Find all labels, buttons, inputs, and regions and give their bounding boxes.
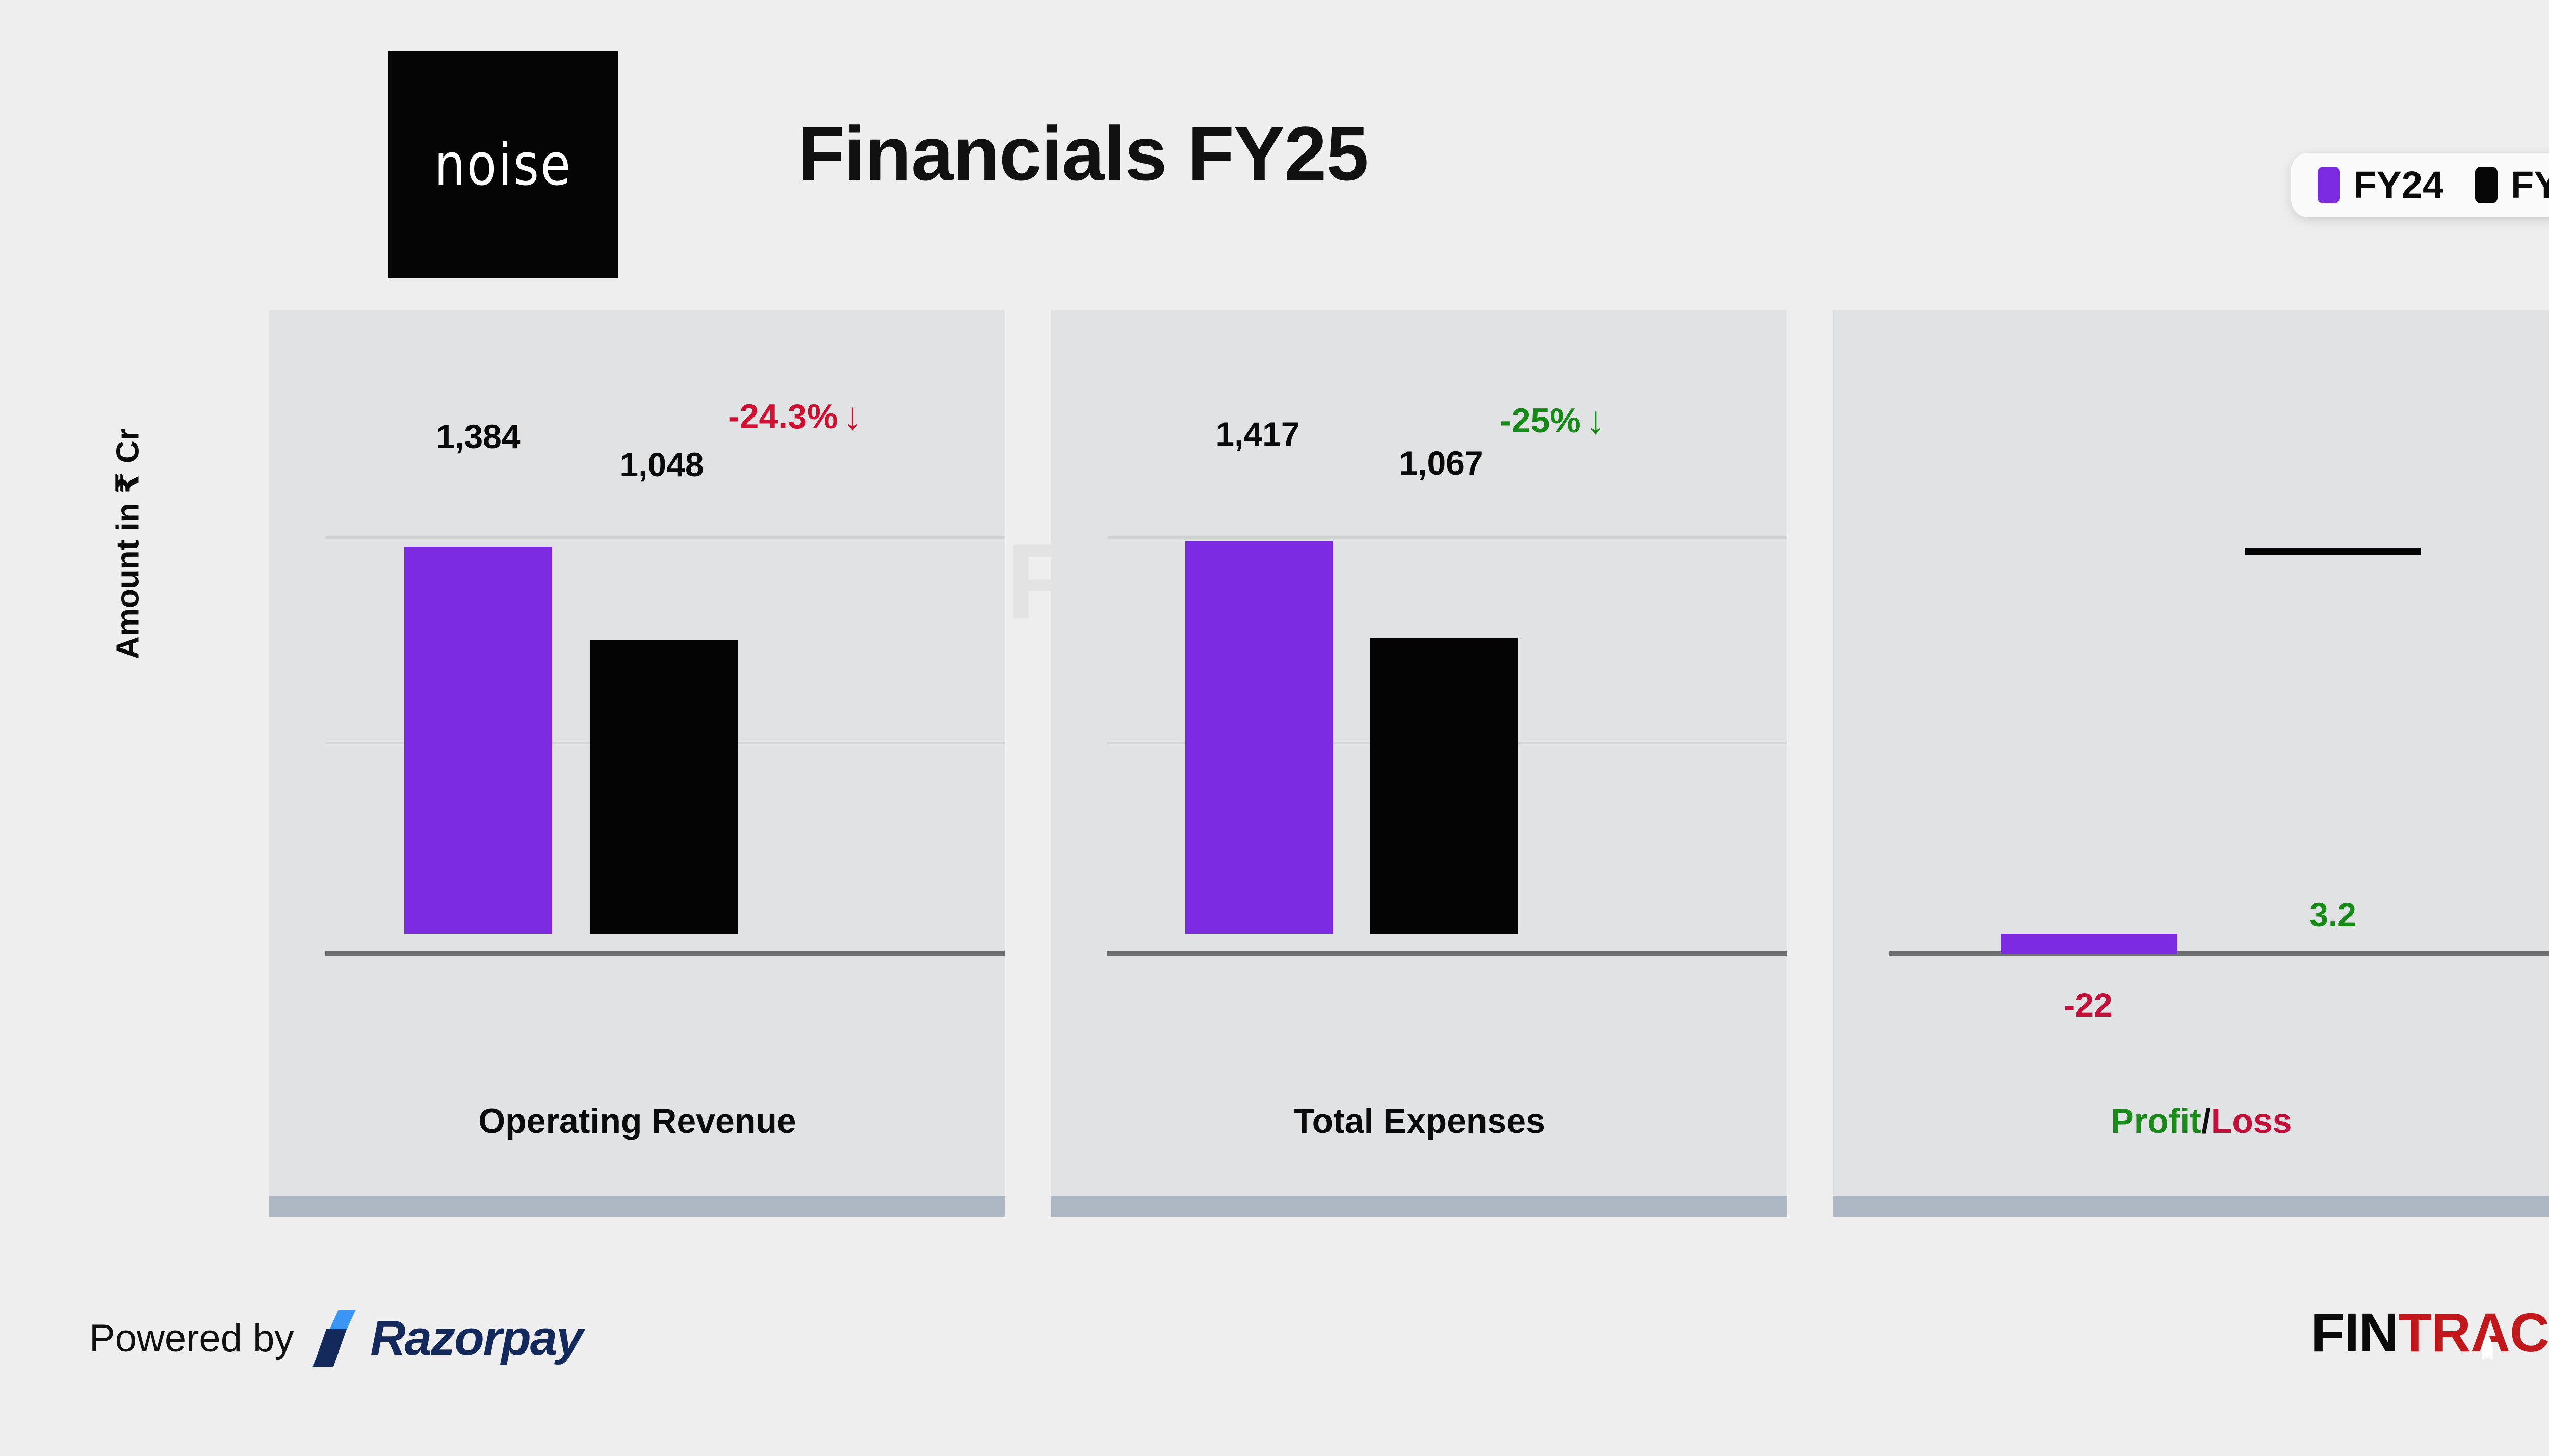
- delta-value: -25%: [1500, 401, 1581, 440]
- legend-swatch-fy25-icon: [2475, 167, 2498, 203]
- razorpay-logo: Razorpay: [311, 1310, 582, 1367]
- infographic-canvas: noise Financials FY25 FY24 FY25 Amount i…: [0, 0, 2549, 1456]
- powered-by-label: Powered by: [89, 1316, 294, 1361]
- gridline: [325, 536, 1005, 539]
- bar-value-fy25: 1,048: [570, 445, 753, 484]
- bar-value-fy25: 3.2: [2241, 895, 2425, 934]
- arrow-down-icon: ↓: [1586, 403, 1605, 438]
- caption-profit-word: Profit: [2111, 1102, 2201, 1140]
- bar-fy24[interactable]: [404, 547, 552, 934]
- panel-operating-revenue: -24.3% ↓ 1,384 1,048 Operating Revenue: [269, 310, 1005, 1217]
- fintrackr-trackr-label: TRACKR: [2398, 1302, 2549, 1363]
- legend-item-fy25[interactable]: FY25: [2475, 166, 2549, 204]
- fintrackr-logo: FIN TRACKR: [2311, 1301, 2549, 1364]
- panel-accent-bar: [1051, 1196, 1787, 1217]
- razorpay-mark-icon: [311, 1310, 366, 1367]
- rocket-icon: [2476, 1333, 2499, 1363]
- bar-fy24[interactable]: [1185, 541, 1333, 934]
- delta-value: -24.3%: [728, 397, 838, 436]
- arrow-down-icon: ↓: [843, 399, 862, 434]
- gridline: [1107, 536, 1787, 539]
- delta-badge-operating-revenue: -24.3% ↓: [728, 397, 862, 436]
- axis-baseline: [1107, 951, 1787, 956]
- noise-logo-text: noise: [434, 131, 572, 198]
- legend-label-fy24: FY24: [2353, 166, 2443, 204]
- panel-caption-total-expenses: Total Expenses: [1051, 1101, 1787, 1141]
- chart-panels: -24.3% ↓ 1,384 1,048 Operating Revenue -…: [269, 310, 2549, 1217]
- panel-caption-operating-revenue: Operating Revenue: [269, 1101, 1005, 1141]
- bar-value-fy25: 1,067: [1349, 444, 1533, 482]
- plot-area-total-expenses: -25% ↓ 1,417 1,067: [1051, 310, 1787, 1196]
- fintrackr-trackr-text: TRACKR: [2398, 1301, 2549, 1364]
- bar-fy25[interactable]: [1370, 638, 1518, 934]
- plot-area-profit-loss: -22 3.2: [1833, 310, 2549, 1196]
- bar-fy25[interactable]: [590, 640, 738, 934]
- y-axis-label: Amount in ₹ Cr: [109, 366, 146, 722]
- caption-slash: /: [2201, 1102, 2211, 1140]
- legend-swatch-fy24-icon: [2318, 167, 2340, 203]
- bar-value-fy24: 1,417: [1166, 414, 1349, 453]
- legend-label-fy25: FY25: [2511, 166, 2549, 204]
- bar-value-fy24: -22: [1996, 985, 2180, 1024]
- plot-area-operating-revenue: -24.3% ↓ 1,384 1,048: [269, 310, 1005, 1196]
- axis-zero-line: [1889, 951, 2549, 956]
- bar-value-fy24: 1,384: [386, 417, 570, 456]
- legend-item-fy24[interactable]: FY24: [2318, 166, 2443, 204]
- page-title: Financials FY25: [798, 110, 1368, 198]
- axis-baseline: [325, 951, 1005, 956]
- powered-by-razorpay: Powered by Razorpay: [89, 1310, 582, 1367]
- bar-fy25[interactable]: [2245, 548, 2421, 555]
- panel-caption-profit-loss: Profit/Loss: [1833, 1101, 2549, 1141]
- panel-accent-bar: [269, 1196, 1005, 1217]
- caption-loss-word: Loss: [2211, 1102, 2292, 1140]
- delta-badge-total-expenses: -25% ↓: [1500, 401, 1605, 440]
- razorpay-wordmark: Razorpay: [370, 1314, 582, 1363]
- legend: FY24 FY25: [2291, 153, 2549, 217]
- panel-profit-loss: -22 3.2 Profit/Loss: [1833, 310, 2549, 1217]
- fintrackr-fin-text: FIN: [2311, 1301, 2398, 1364]
- panel-total-expenses: -25% ↓ 1,417 1,067 Total Expenses: [1051, 310, 1787, 1217]
- panel-accent-bar: [1833, 1196, 2549, 1217]
- noise-logo: noise: [388, 51, 618, 278]
- bar-fy24[interactable]: [2001, 934, 2177, 954]
